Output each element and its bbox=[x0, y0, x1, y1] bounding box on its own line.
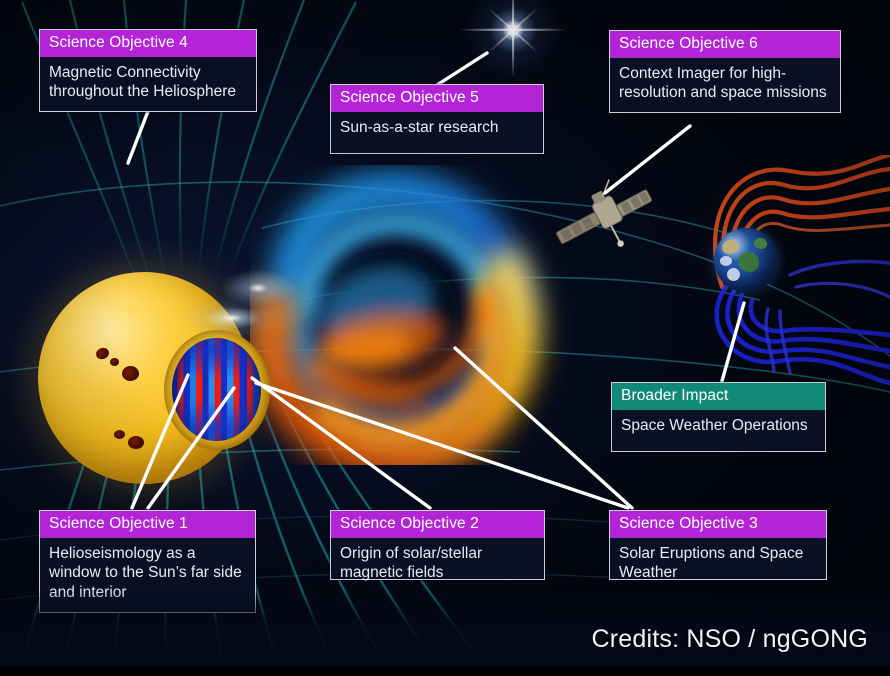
oscillation-mode-pattern bbox=[172, 338, 261, 441]
callout-science-objective-6[interactable]: Science Objective 6 Context Imager for h… bbox=[609, 30, 841, 113]
callout-body: Sun-as-a-star research bbox=[331, 112, 543, 147]
callout-header: Science Objective 1 bbox=[40, 511, 255, 538]
landmass bbox=[720, 238, 740, 257]
sun-illustration bbox=[38, 272, 250, 484]
credits-text: Credits: NSO / ngGONG bbox=[592, 625, 869, 654]
callout-body: Origin of solar/stellar magnetic fields bbox=[331, 538, 544, 592]
callout-science-objective-4[interactable]: Science Objective 4 Magnetic Connectivit… bbox=[39, 29, 257, 112]
callout-header: Science Objective 4 bbox=[40, 30, 256, 57]
sunspot bbox=[114, 430, 125, 439]
helioseismology-mode-disk bbox=[164, 330, 270, 450]
callout-header: Science Objective 6 bbox=[610, 31, 840, 58]
cloud bbox=[727, 268, 740, 281]
distant-star-burst bbox=[458, 0, 568, 85]
callout-header: Science Objective 3 bbox=[610, 511, 826, 538]
cloud bbox=[720, 256, 732, 266]
sunspot bbox=[110, 358, 119, 366]
callout-header: Broader Impact bbox=[612, 383, 825, 410]
callout-header: Science Objective 2 bbox=[331, 511, 544, 538]
star-ray bbox=[512, 0, 514, 78]
landmass bbox=[738, 252, 759, 272]
earth-globe bbox=[714, 228, 778, 292]
callout-broader-impact[interactable]: Broader Impact Space Weather Operations bbox=[611, 382, 826, 452]
callout-science-objective-2[interactable]: Science Objective 2 Origin of solar/stel… bbox=[330, 510, 545, 580]
callout-body: Magnetic Connectivity throughout the Hel… bbox=[40, 57, 256, 111]
callout-science-objective-5[interactable]: Science Objective 5 Sun-as-a-star resear… bbox=[330, 84, 544, 154]
callout-body: Space Weather Operations bbox=[612, 410, 825, 445]
sunspot bbox=[122, 366, 139, 381]
callout-science-objective-3[interactable]: Science Objective 3 Solar Eruptions and … bbox=[609, 510, 827, 580]
bottom-letterbox bbox=[0, 667, 890, 676]
callout-body: Context Imager for high- resolution and … bbox=[610, 58, 840, 112]
landmass bbox=[754, 238, 767, 249]
spacecraft-illustration bbox=[545, 175, 665, 285]
callout-header: Science Objective 5 bbox=[331, 85, 543, 112]
callout-body: Solar Eruptions and Space Weather bbox=[610, 538, 826, 592]
science-objectives-figure: Science Objective 4 Magnetic Connectivit… bbox=[0, 0, 890, 676]
sunspot bbox=[128, 436, 144, 449]
